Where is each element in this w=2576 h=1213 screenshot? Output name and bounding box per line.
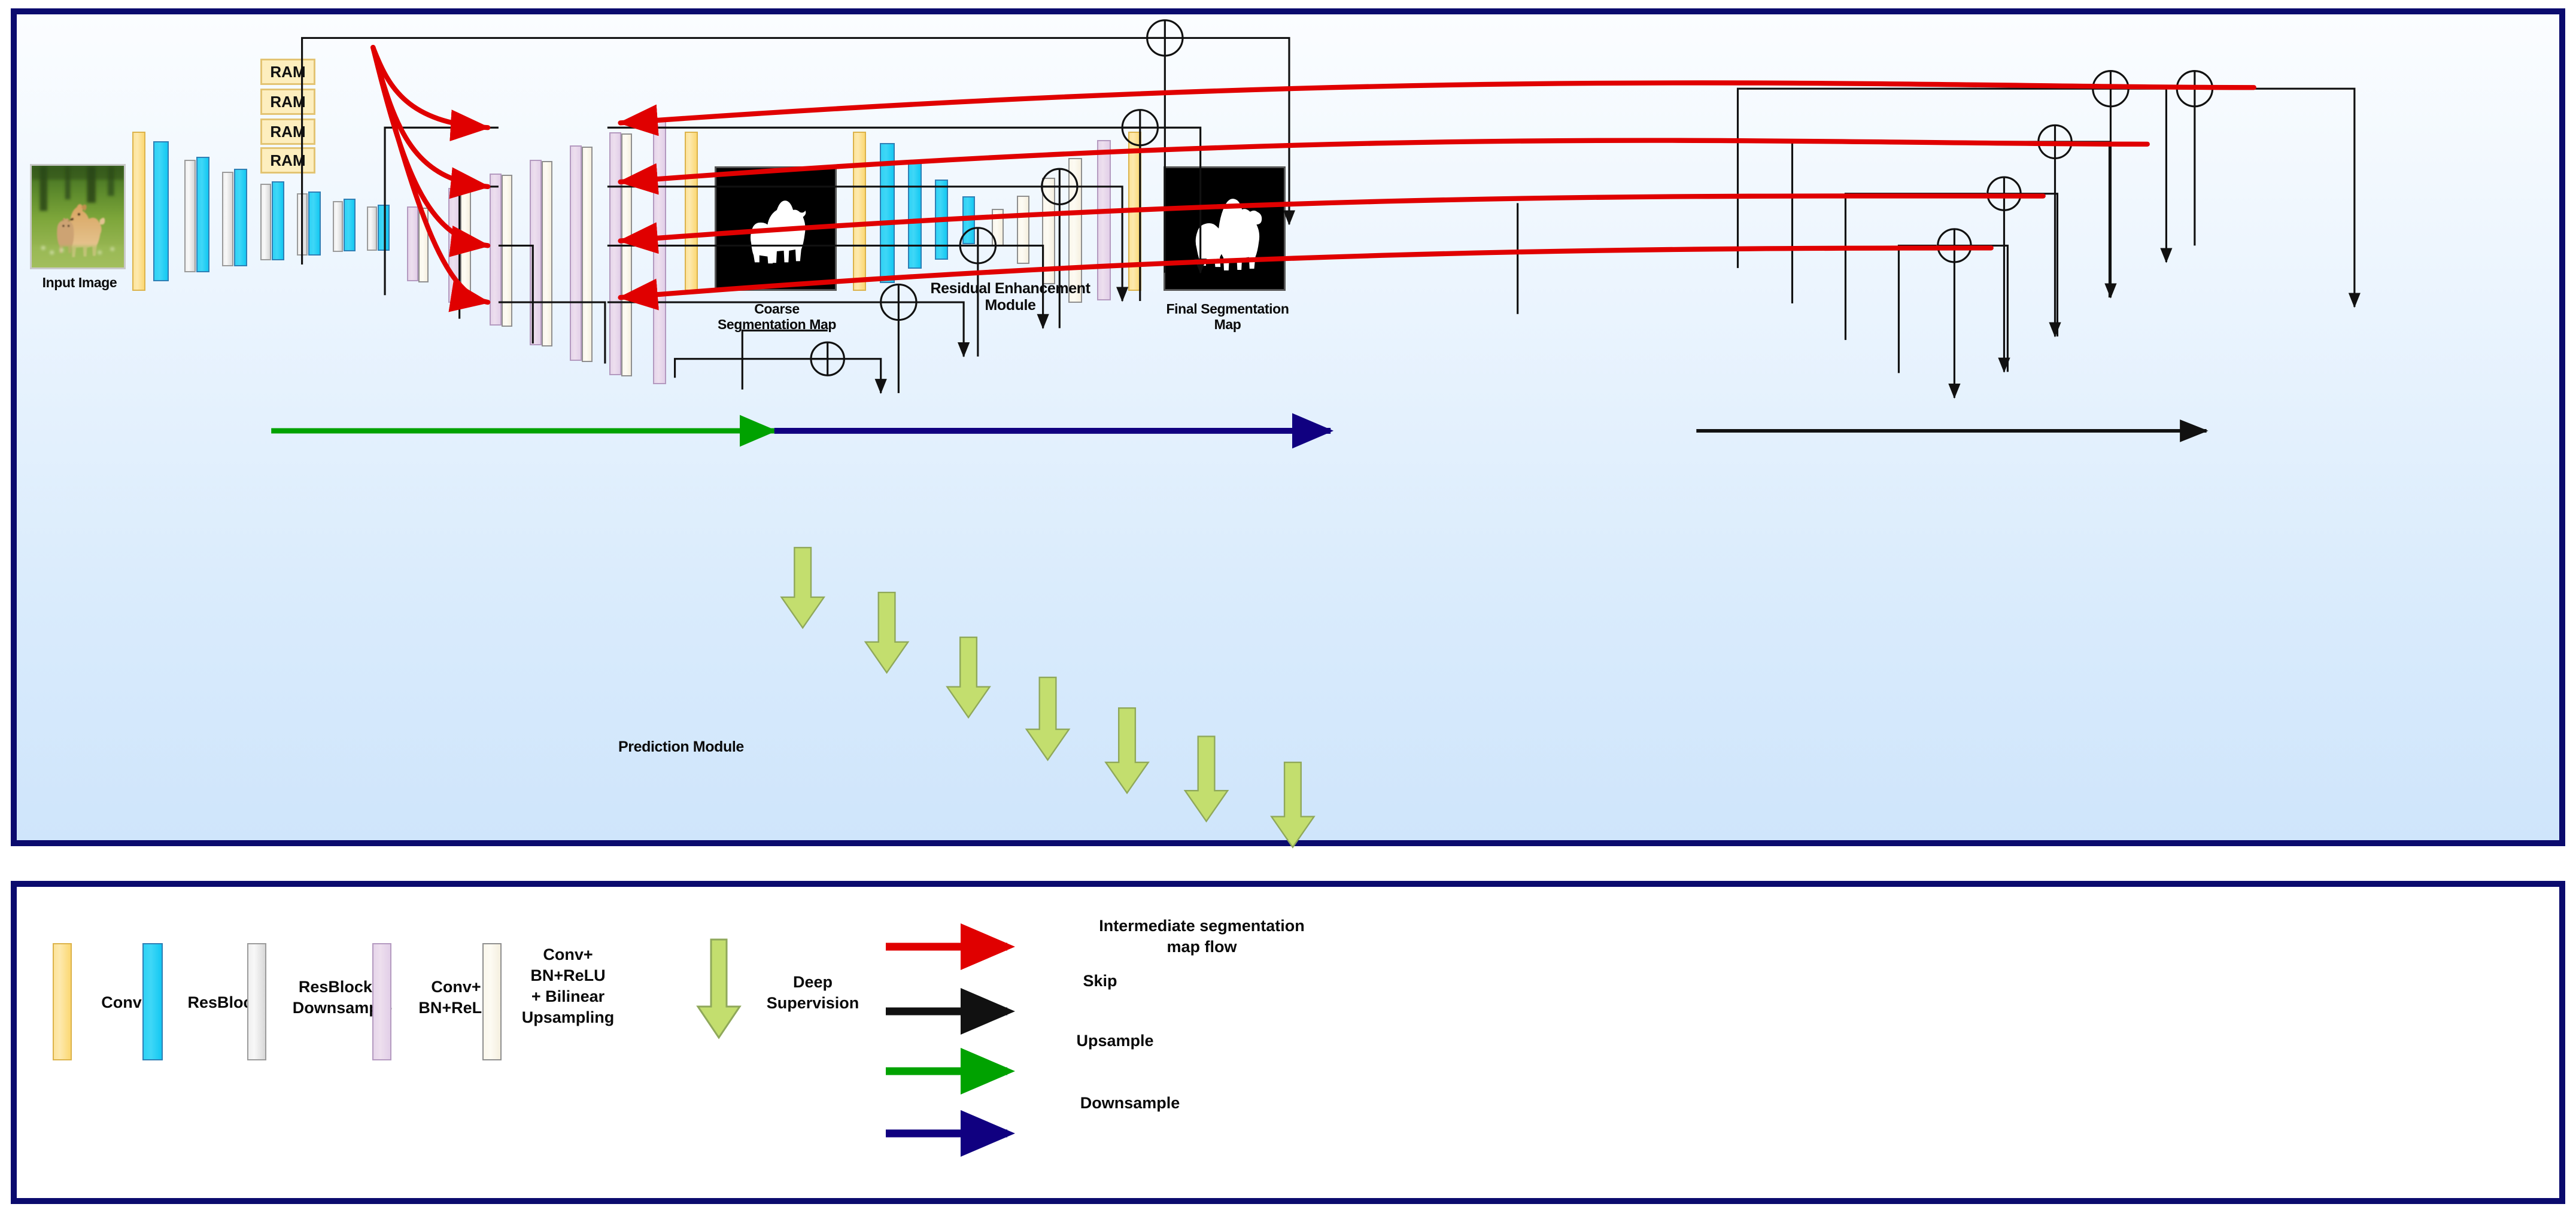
legend-swatch-deep-supervision [698, 940, 740, 1038]
legend-label-deep-supervision: Deep Supervision [753, 972, 873, 1014]
connection-lines-layer [17, 14, 2559, 840]
legend-label-skip: Skip [1028, 971, 1172, 992]
deep-supervision-arrows [782, 548, 1314, 847]
legend-label-intermediate-flow: Intermediate segmentation map flow [1028, 916, 1375, 957]
legend-label-upsample: Upsample [1028, 1030, 1202, 1051]
legend-label-downsample: Downsample [1028, 1093, 1232, 1114]
legend-panel: Conv ResBlock ResBlock + Downsample Conv… [11, 881, 2565, 1204]
architecture-diagram-panel: Input Image Prediction Module [11, 8, 2565, 846]
